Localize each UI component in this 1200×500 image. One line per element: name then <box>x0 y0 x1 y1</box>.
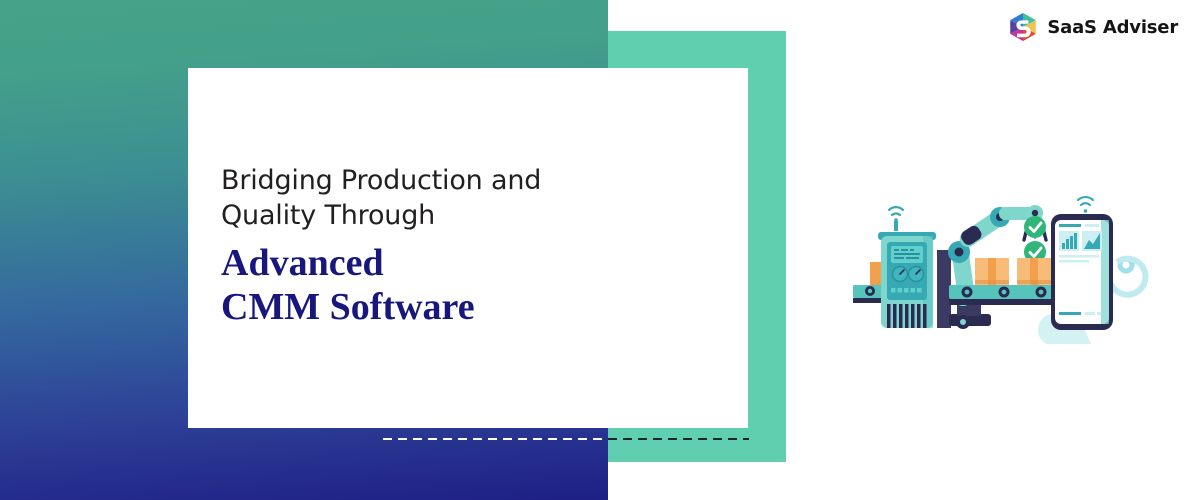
wifi-icon-machine <box>889 207 903 222</box>
wifi-icon-phone <box>1078 197 1093 213</box>
marketing-banner: Bridging Production and Quality Through … <box>0 0 1200 500</box>
dashed-divider-dark-segment <box>608 438 749 440</box>
check-mark-icon-top <box>1024 216 1046 238</box>
gear-icon-large <box>1111 259 1145 295</box>
brand-logo-text: SaaS Adviser <box>1047 17 1178 38</box>
headline-wrap: Bridging Production and Quality Through … <box>221 164 721 329</box>
brand-logo[interactable]: SaaS Adviser <box>1008 12 1178 42</box>
saas-adviser-hexagon-s-logo-icon <box>1008 12 1038 42</box>
antenna-stem <box>894 221 898 231</box>
smartphone-dashboard <box>1051 214 1113 330</box>
factory-automation-illustration <box>845 192 1155 357</box>
dashed-divider <box>383 438 749 440</box>
machine-pillar <box>937 250 951 328</box>
headline-title: Advanced CMM Software <box>221 242 721 329</box>
dashed-divider-light-segment <box>383 438 608 440</box>
bar-chart-widget <box>1059 231 1079 251</box>
headline-card: Bridging Production and Quality Through … <box>188 68 748 428</box>
factory-automation-illustration-svg <box>845 192 1155 357</box>
headline-subtitle: Bridging Production and Quality Through <box>221 164 721 233</box>
control-machine <box>878 232 936 328</box>
line-chart-widget <box>1082 231 1102 251</box>
